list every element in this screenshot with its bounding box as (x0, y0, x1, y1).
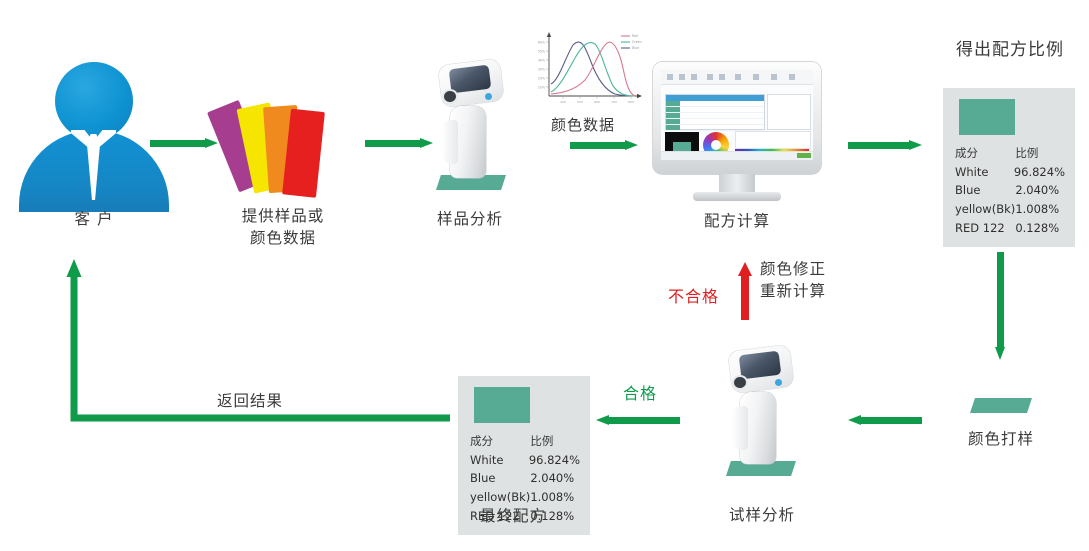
svg-text:20%: 20% (538, 76, 545, 80)
color-proof-label: 颜色打样 (931, 428, 1071, 450)
arrow-customer-to-sample (150, 138, 218, 149)
device-grip (442, 120, 458, 164)
arrow-sample-to-analysis (365, 138, 433, 149)
tie-shape (87, 134, 100, 200)
device-screen (739, 351, 782, 380)
software-side-panel (767, 94, 811, 130)
person-body-icon (19, 130, 169, 212)
formula-color-swatch (959, 99, 1015, 135)
arrow-colordata-to-calc (570, 140, 638, 151)
monitor-screen (661, 70, 813, 160)
cell-ratio: 96.824% (1014, 163, 1065, 182)
cell-ratio: 96.824% (529, 451, 580, 470)
software-statusbar (661, 151, 813, 160)
svg-text:400: 400 (560, 100, 566, 104)
formula-table-top: 成分 比例 White 96.824% Blue 2.040% yellow(B… (955, 144, 1065, 237)
cell-ratio: 2.040% (530, 469, 580, 488)
person-head-icon (55, 62, 133, 140)
software-mini-chart (735, 131, 811, 149)
final-formula-label: 最终配方 (443, 505, 583, 527)
spectral-curve-chart: 60%50% 40%30% 20%10% 400500600 700800 Re… (527, 28, 645, 110)
software-data-table (665, 94, 765, 130)
arrow-fail-recalculate (738, 262, 752, 320)
table-row: RED 122 0.128% (955, 219, 1065, 238)
pass-label: 合格 (623, 380, 657, 404)
formula-card-top: 成分 比例 White 96.824% Blue 2.040% yellow(B… (943, 88, 1075, 247)
device-screen (449, 65, 492, 94)
spectrophotometer-top (428, 62, 518, 190)
cell-ratio: 1.008% (1015, 200, 1065, 219)
color-data-label: 颜色数据 (518, 115, 648, 137)
svg-text:40%: 40% (538, 58, 545, 62)
svg-text:50%: 50% (538, 49, 545, 53)
cell-component: Blue (470, 469, 530, 488)
fail-label: 不合格 (668, 283, 719, 307)
header-ratio: 比例 (1015, 144, 1065, 163)
svg-text:800: 800 (628, 100, 634, 104)
svg-text:30%: 30% (538, 67, 545, 71)
software-toolbar (661, 70, 813, 85)
color-proof-swatch (970, 398, 1032, 413)
device-indicator-icon (485, 93, 492, 100)
return-path-arrow (62, 255, 452, 425)
svg-text:Blue: Blue (632, 46, 639, 50)
software-preview-swatch (665, 132, 699, 152)
table-row: Blue 2.040% (955, 181, 1065, 200)
arrow-formula-to-proof (995, 252, 1006, 360)
header-component: 成分 (470, 432, 530, 451)
arrow-calc-to-formula (848, 140, 922, 151)
spectrophotometer-bottom (718, 348, 808, 476)
cell-ratio: 2.040% (1015, 181, 1065, 200)
trial-analysis-label: 试样分析 (692, 504, 832, 526)
cell-component: White (955, 163, 1014, 182)
cell-component: yellow(Bk) (470, 488, 530, 507)
color-sample-cards (228, 96, 338, 200)
svg-text:500: 500 (577, 100, 583, 104)
arrow-proof-to-trial (848, 415, 922, 426)
svg-text:Green: Green (632, 40, 642, 44)
formula-color-swatch (474, 387, 530, 423)
table-row: White 96.824% (955, 163, 1065, 182)
table-header-row: 成分 比例 (955, 144, 1065, 163)
customer-label: 客 户 (18, 208, 170, 230)
table-row: Blue 2.040% (470, 469, 580, 488)
header-component: 成分 (955, 144, 1015, 163)
cell-ratio: 1.008% (530, 488, 580, 507)
table-row: yellow(Bk) 1.008% (470, 488, 580, 507)
svg-text:10%: 10% (538, 85, 545, 89)
chart-svg: 60%50% 40%30% 20%10% 400500600 700800 Re… (527, 28, 645, 110)
cell-component: White (470, 451, 529, 470)
table-header-row: 成分 比例 (470, 432, 580, 451)
header-ratio: 比例 (530, 432, 580, 451)
cell-component: yellow(Bk) (955, 200, 1015, 219)
monitor-base (693, 192, 781, 201)
svg-text:700: 700 (611, 100, 617, 104)
device-grip (732, 406, 748, 450)
customer-icon (18, 62, 170, 212)
svg-text:60%: 60% (538, 40, 545, 44)
provide-sample-label: 提供样品或 颜色数据 (203, 205, 363, 250)
svg-text:600: 600 (594, 100, 600, 104)
table-row: yellow(Bk) 1.008% (955, 200, 1065, 219)
cell-component: Blue (955, 181, 1015, 200)
device-indicator-icon (775, 379, 782, 386)
cell-ratio: 0.128% (1015, 219, 1065, 238)
recalculate-label: 颜色修正 重新计算 (760, 258, 850, 303)
arrow-pass-to-final (596, 415, 680, 426)
svg-text:Red: Red (632, 34, 638, 38)
table-row: White 96.824% (470, 451, 580, 470)
formula-calc-label: 配方计算 (667, 210, 807, 232)
sample-analysis-label: 样品分析 (400, 208, 540, 230)
workflow-diagram: 客 户 提供样品或 颜色数据 样品分析 (0, 0, 1089, 551)
formula-result-label: 得出配方比例 (930, 38, 1089, 63)
cell-component: RED 122 (955, 219, 1015, 238)
formula-software-monitor (653, 62, 821, 204)
